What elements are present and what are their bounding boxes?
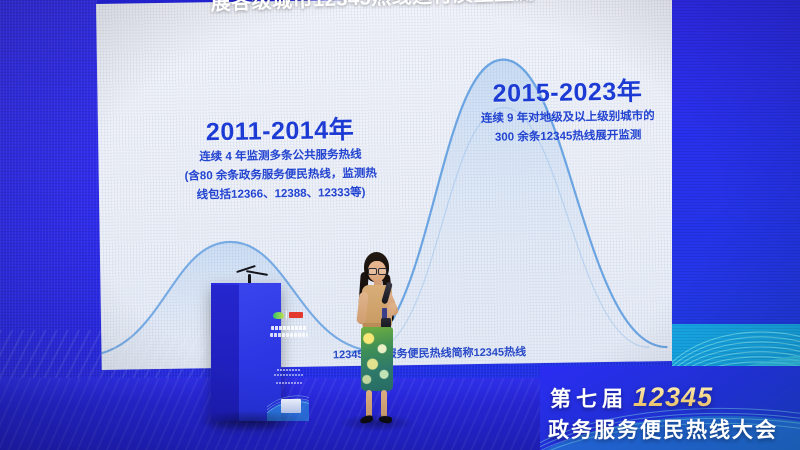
glasses-icon	[368, 268, 386, 273]
left-period-heading: 2011-2014年	[160, 109, 401, 149]
conference-stage-photo: 展各级城市12345热线运行质量监测 2011-2014年 连续 4	[0, 0, 800, 450]
glasses-left-lens	[368, 268, 377, 275]
right-led-panel	[672, 0, 800, 392]
podium-title-line-2	[270, 333, 308, 337]
banner-title-line-1: 第七届 12345	[550, 382, 713, 413]
podium-side-panel	[211, 285, 239, 421]
glasses-right-lens	[378, 268, 387, 275]
right-period-block: 2015-2023年 连续 9 年对地级及以上级别城市的 300 余条12345…	[447, 71, 678, 149]
speaker-person	[346, 252, 408, 428]
podium-document-graphic	[281, 399, 301, 413]
event-banner: 第七届 12345 政务服务便民热线大会	[540, 366, 800, 450]
leaf-mark-icon	[273, 312, 284, 319]
podium-front-panel	[239, 283, 281, 421]
logo-divider	[286, 311, 287, 319]
right-period-heading: 2015-2023年	[447, 71, 678, 111]
logo-red-tag-icon	[289, 312, 303, 318]
podium-shadow	[196, 410, 306, 432]
podium-subtext-line-2	[274, 374, 304, 376]
banner-subtitle: 政务服务便民热线大会	[548, 414, 778, 444]
patterned-skirt	[361, 327, 393, 391]
banner-hotline-number: 12345	[633, 382, 713, 413]
left-period-line-3: 线包括12366、12388、12333等)	[161, 183, 401, 206]
banner-edition-label: 第七届	[550, 383, 628, 413]
podium-subtext-line-1	[277, 369, 301, 371]
leaf-logo-icon	[273, 311, 303, 319]
podium	[211, 283, 281, 421]
right-period-line-2: 300 余条12345热线展开监测	[448, 126, 678, 149]
speaker-shadow	[338, 414, 416, 432]
right-period-line-1: 连续 9 年对地级及以上级别城市的	[448, 107, 678, 130]
podium-title-line-1	[271, 326, 307, 330]
left-period-block: 2011-2014年 连续 4 年监测多条公共服务热线 (含80 余条政务服务便…	[160, 109, 401, 206]
